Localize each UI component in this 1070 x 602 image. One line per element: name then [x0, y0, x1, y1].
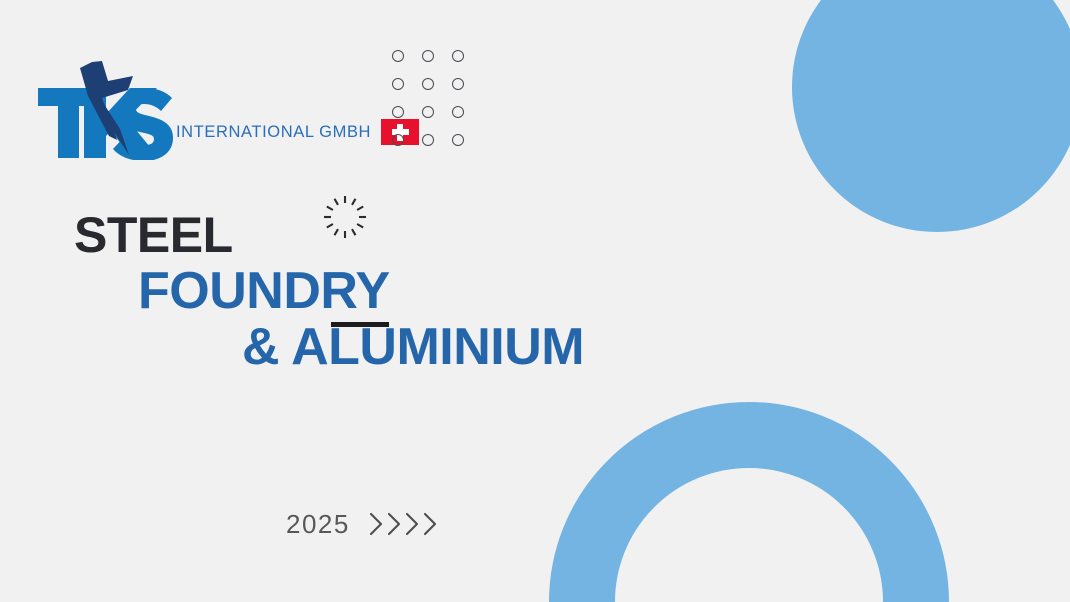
company-name-label: INTERNATIONAL GMBH [176, 123, 371, 142]
dot [452, 50, 464, 62]
logo-lockup: INTERNATIONAL GMBH [36, 60, 419, 160]
dot [422, 106, 434, 118]
headline-line-foundry: FOUNDRY [138, 265, 390, 317]
chevron-right-icon [386, 511, 403, 537]
footer-block: 2025 [286, 511, 439, 537]
dot [392, 134, 404, 146]
circle-shape [792, 0, 1070, 232]
dot-grid-icon [392, 50, 482, 162]
year-label: 2025 [286, 511, 350, 537]
headline-line-steel: STEEL [74, 210, 233, 260]
sunburst-icon [320, 192, 370, 242]
dot [392, 50, 404, 62]
dot [452, 78, 464, 90]
chevron-right-icon [368, 511, 385, 537]
dot [422, 78, 434, 90]
dot [422, 134, 434, 146]
chevron-right-icon [422, 511, 439, 537]
chevron-group [368, 511, 439, 537]
dot [392, 106, 404, 118]
dot [392, 78, 404, 90]
tks-logo-mark [36, 60, 174, 160]
chevron-right-icon [404, 511, 421, 537]
ring-shape [549, 402, 949, 602]
accent-underline [331, 322, 389, 327]
dot [422, 50, 434, 62]
headline-line-aluminium: & ALUMINIUM [242, 321, 584, 373]
dot [452, 134, 464, 146]
dot [452, 106, 464, 118]
presentation-cover-slide: INTERNATIONAL GMBH [0, 0, 1070, 602]
